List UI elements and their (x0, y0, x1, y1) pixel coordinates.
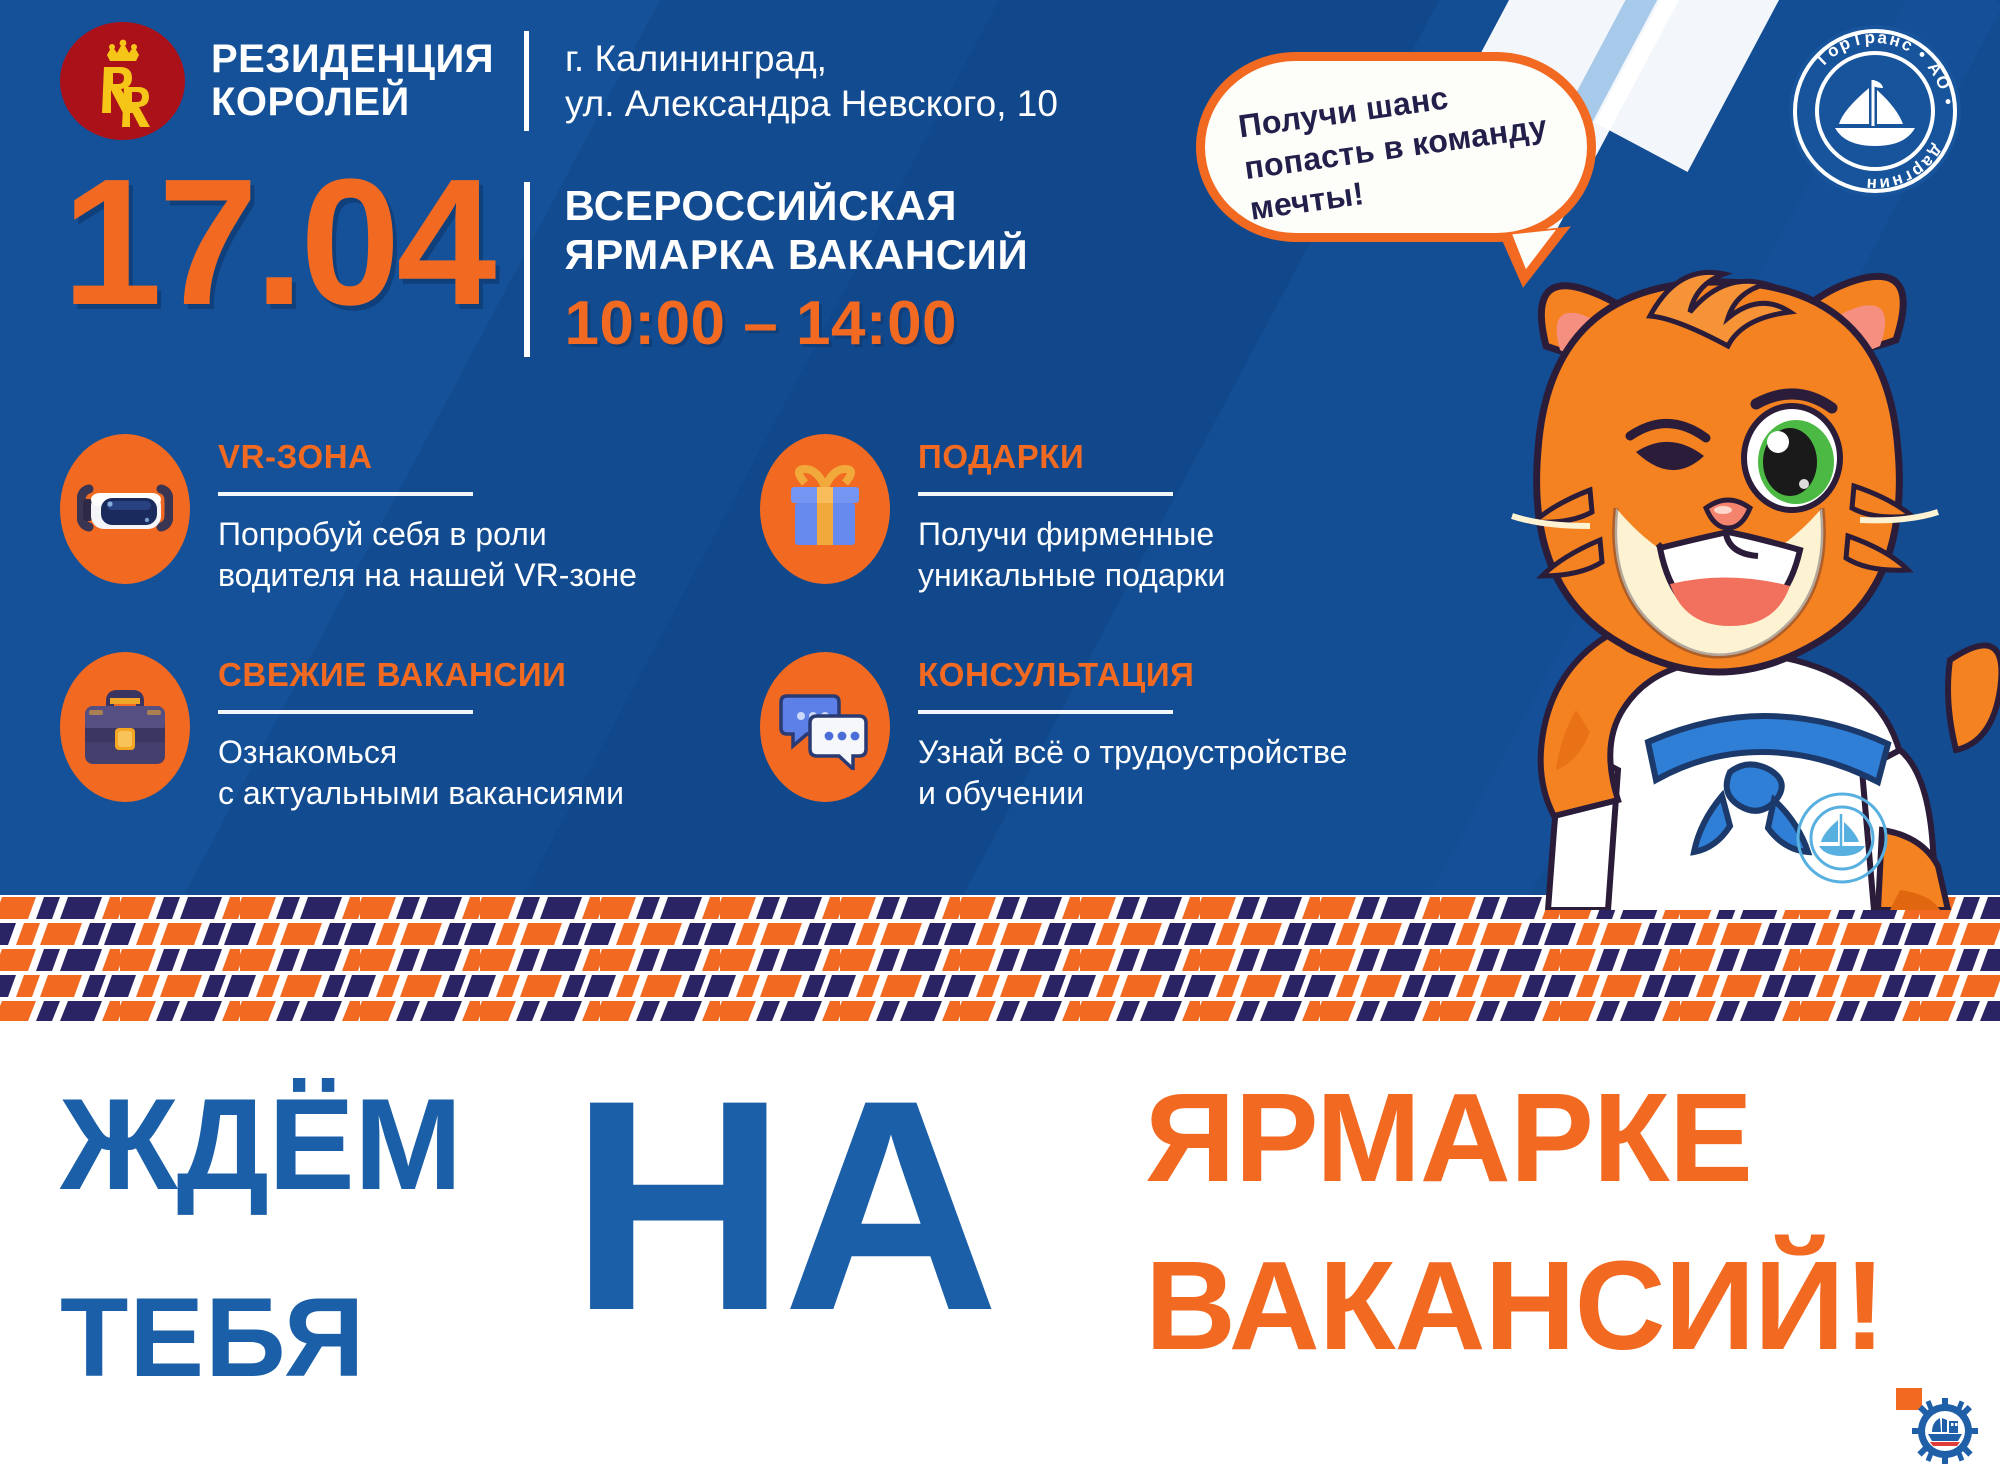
feature-body: СВЕЖИЕ ВАКАНСИИ Ознакомься с актуальными… (218, 648, 624, 814)
feature-item: VR-ЗОНА Попробуй себя в роли водителя на… (60, 430, 760, 648)
feature-body: VR-ЗОНА Попробуй себя в роли водителя на… (218, 430, 637, 596)
feature-desc-line2: уникальные подарки (918, 555, 1225, 596)
date-divider (524, 182, 530, 357)
feature-desc-line2: и обучении (918, 773, 1347, 814)
feature-rule (218, 710, 473, 714)
speech-bubble: Получи шанс попасть в команду мечты! (1196, 52, 1596, 242)
royal-monogram-rk-icon (60, 22, 185, 140)
feature-rule (218, 492, 473, 496)
footer-word-na: НА (570, 1063, 995, 1348)
event-time: 10:00 – 14:00 (564, 287, 1028, 361)
feature-desc-line1: Попробуй себя в роли (218, 514, 637, 555)
feature-item: СВЕЖИЕ ВАКАНСИИ Ознакомься с актуальными… (60, 648, 760, 866)
event-date: 17.04 (62, 160, 514, 326)
feature-body: ПОДАРКИ Получи фирменные уникальные пода… (918, 430, 1225, 596)
dash-brick-pattern (0, 895, 2000, 1023)
gift-box-icon (760, 434, 890, 584)
footer-right: ЯРМАРКЕ ВАКАНСИЙ! (1145, 1075, 2000, 1369)
gortrans-circle-logo-icon: ГорТранс • АО • Калин даргнин (1786, 22, 1964, 200)
header-divider (524, 31, 529, 131)
address-line2: ул. Александра Невского, 10 (565, 81, 1058, 126)
feature-title: VR-ЗОНА (218, 438, 637, 476)
footer-word-tebya: ТЕБЯ (60, 1285, 530, 1391)
feature-title: КОНСУЛЬТАЦИЯ (918, 656, 1347, 694)
orange-cat-mascot (1430, 190, 2000, 910)
event-datebar: 17.04 ВСЕРОССИЙСКАЯ ЯРМАРКА ВАКАНСИЙ 10:… (62, 160, 1028, 362)
footer-left: ЖДЁМ ТЕБЯ (60, 1083, 530, 1391)
feature-desc-line2: с актуальными вакансиями (218, 773, 624, 814)
header: РЕЗИДЕНЦИЯ КОРОЛЕЙ г. Калининград, ул. А… (60, 22, 1058, 140)
feature-desc-line2: водителя на нашей VR-зоне (218, 555, 637, 596)
feature-rule (918, 710, 1173, 714)
feature-desc-line1: Ознакомься (218, 732, 624, 773)
briefcase-icon (60, 652, 190, 802)
venue-address: г. Калининград, ул. Александра Невского,… (565, 36, 1058, 126)
features-grid: VR-ЗОНА Попробуй себя в роли водителя на… (60, 430, 1460, 866)
feature-title: ПОДАРКИ (918, 438, 1225, 476)
feature-title: СВЕЖИЕ ВАКАНСИИ (218, 656, 624, 694)
vr-headset-icon (60, 434, 190, 584)
feature-rule (918, 492, 1173, 496)
venue-name-line2: КОРОЛЕЙ (211, 81, 494, 124)
feature-item: КОНСУЛЬТАЦИЯ Узнай всё о трудоустройстве… (760, 648, 1460, 866)
venue-name: РЕЗИДЕНЦИЯ КОРОЛЕЙ (211, 38, 494, 124)
footer-block: ЖДЁМ ТЕБЯ НА ЯРМАРКЕ ВАКАНСИЙ! (0, 1023, 2000, 1474)
speech-bubble-text: Получи шанс попасть в команду мечты! (1210, 60, 1581, 233)
feature-item: ПОДАРКИ Получи фирменные уникальные пода… (760, 430, 1460, 648)
chat-bubbles-icon (760, 652, 890, 802)
feature-body: КОНСУЛЬТАЦИЯ Узнай всё о трудоустройстве… (918, 648, 1347, 814)
address-line1: г. Калининград, (565, 36, 1058, 81)
speech-bubble-body: Получи шанс попасть в команду мечты! (1196, 52, 1596, 242)
footer-word-zhdem: ЖДЁМ (60, 1083, 530, 1207)
feature-desc-line1: Получи фирменные (918, 514, 1225, 555)
event-title-line2: ЯРМАРКА ВАКАНСИЙ (564, 231, 1028, 280)
speech-bubble-tail-inner (1512, 230, 1560, 270)
venue-name-line1: РЕЗИДЕНЦИЯ (211, 38, 494, 81)
gear-ship-emblem-icon (1912, 1398, 1978, 1464)
feature-desc-line1: Узнай всё о трудоустройстве (918, 732, 1347, 773)
poster-root: РЕЗИДЕНЦИЯ КОРОЛЕЙ г. Калининград, ул. А… (0, 0, 2000, 1474)
event-title-line1: ВСЕРОССИЙСКАЯ (564, 182, 1028, 231)
event-titleblock: ВСЕРОССИЙСКАЯ ЯРМАРКА ВАКАНСИЙ 10:00 – 1… (564, 160, 1028, 362)
footer-word-vakansiy: ВАКАНСИЙ! (1145, 1243, 2000, 1369)
footer-word-yarmarke: ЯРМАРКЕ (1145, 1075, 2000, 1201)
